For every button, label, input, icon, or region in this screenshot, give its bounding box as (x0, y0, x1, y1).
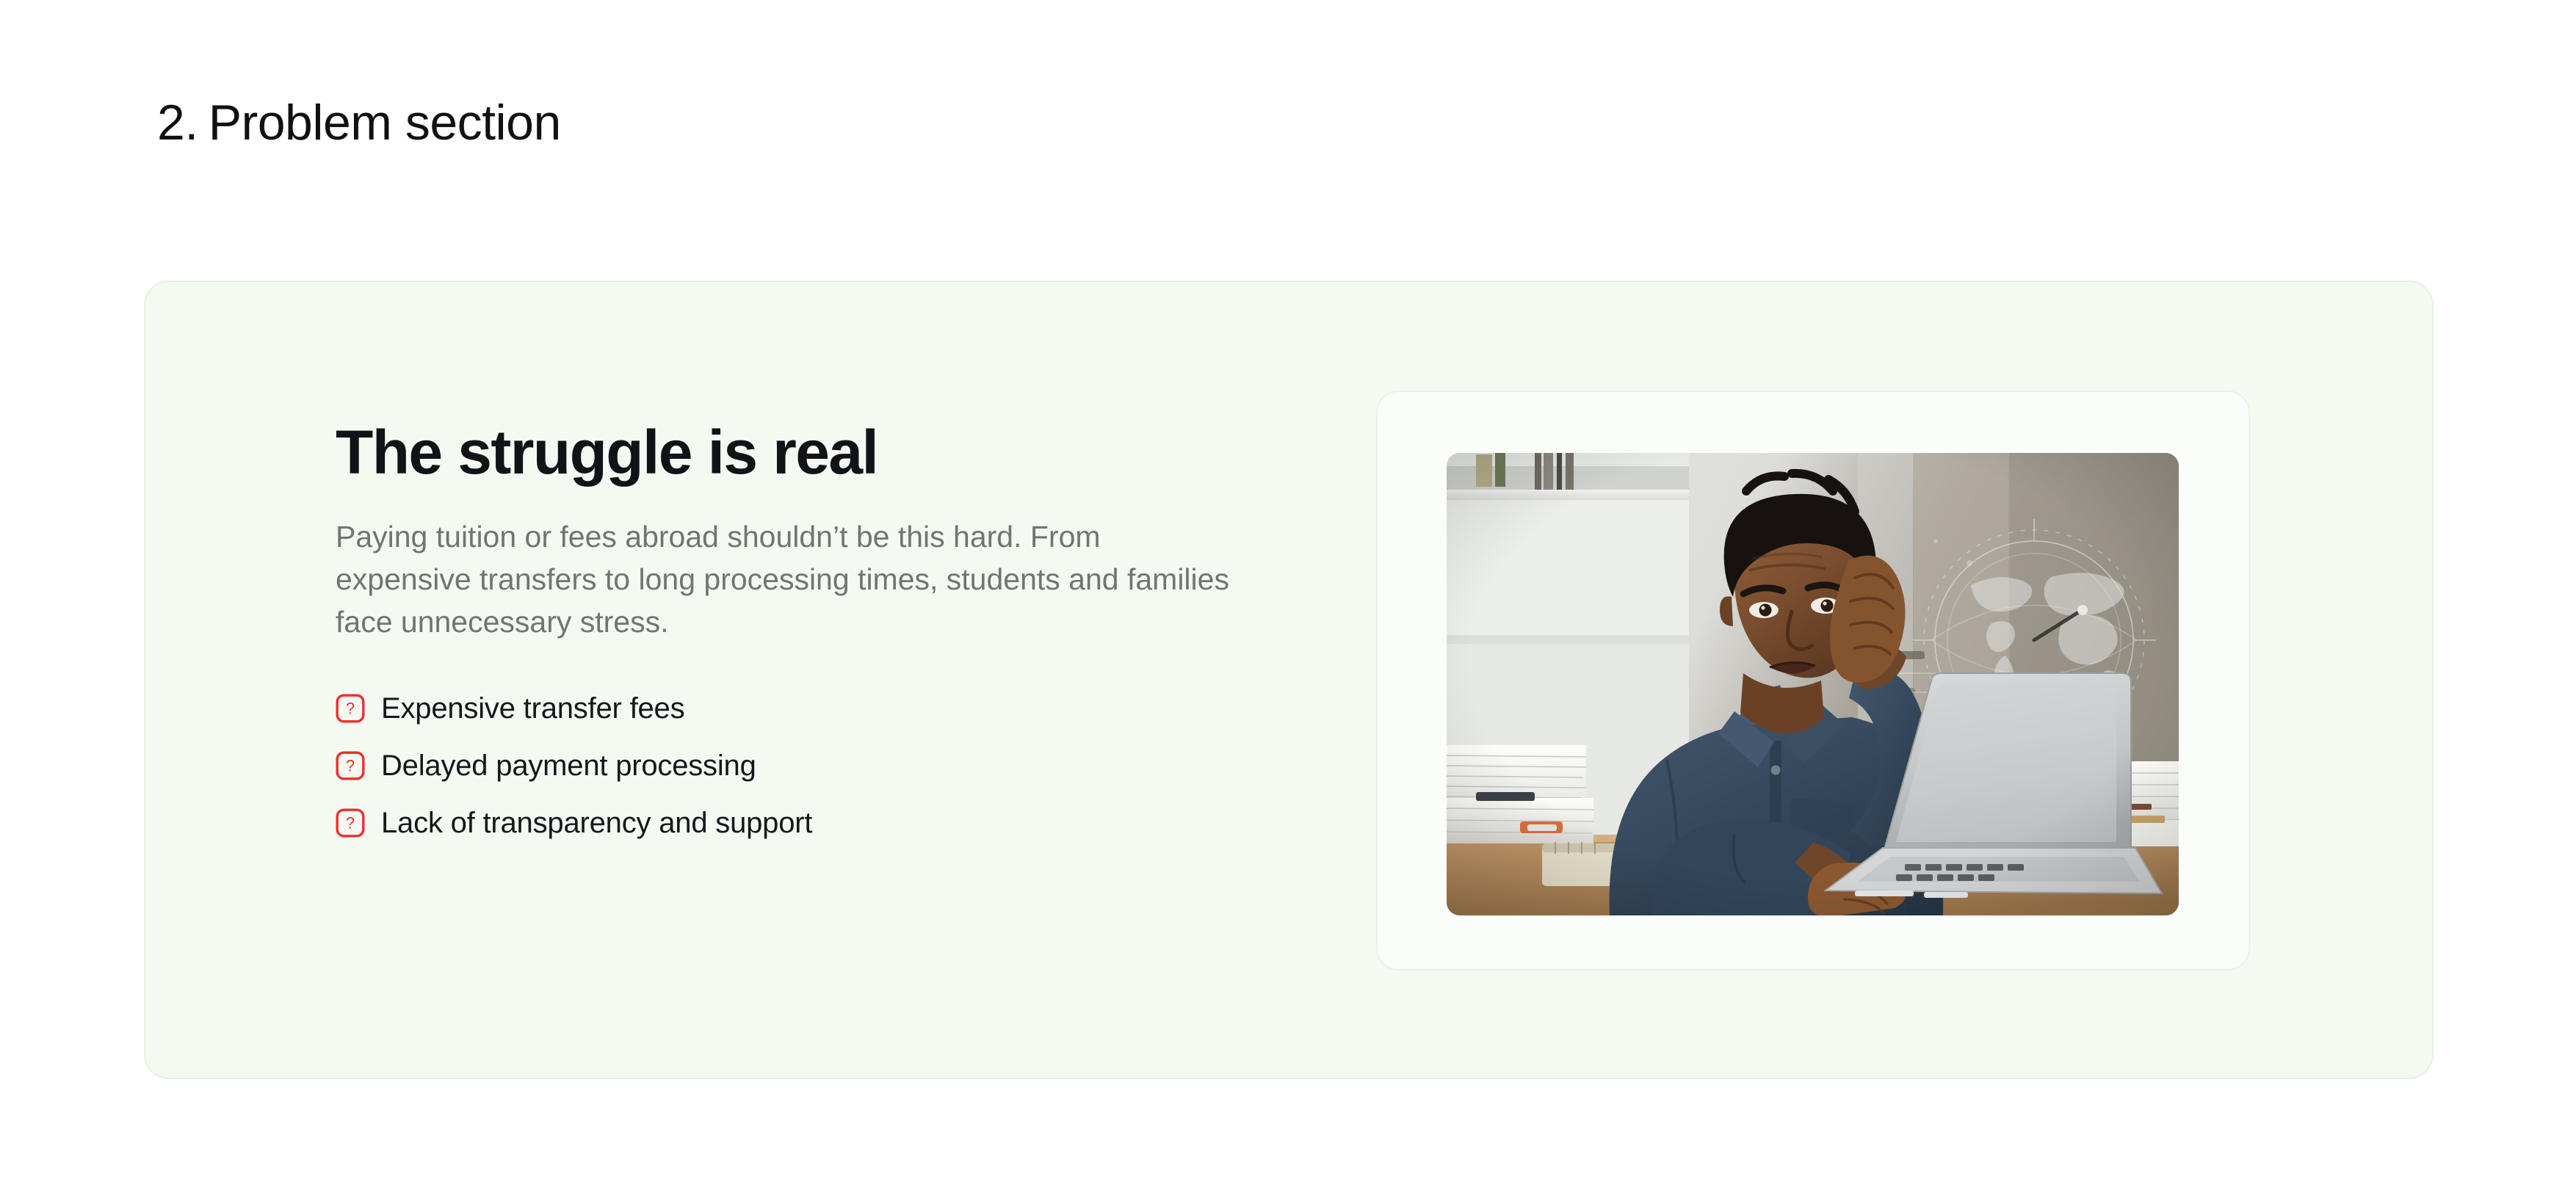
list-item-label: Delayed payment processing (381, 748, 756, 783)
list-item: ? Delayed payment processing (336, 748, 1268, 783)
svg-text:?: ? (346, 813, 355, 832)
card-body-text: Paying tuition or fees abroad shouldn’t … (336, 515, 1239, 644)
copy-column: The struggle is real Paying tuition or f… (336, 421, 1268, 841)
image-frame: SETTINGS (1376, 391, 2250, 970)
page-title: 2.Problem section (157, 94, 561, 151)
problem-card: The struggle is real Paying tuition or f… (144, 280, 2434, 1079)
card-inner: The struggle is real Paying tuition or f… (145, 282, 2432, 1078)
svg-text:?: ? (346, 756, 355, 774)
slide-canvas: 2.Problem section The struggle is real P… (0, 0, 2576, 1201)
alert-question-icon: ? (336, 694, 365, 723)
list-item-label: Lack of transparency and support (381, 805, 812, 841)
list-item-label: Expensive transfer fees (381, 691, 684, 726)
card-title: The struggle is real (336, 421, 1268, 483)
stressed-student-at-laptop-photo: SETTINGS (1447, 453, 2179, 915)
list-item: ? Lack of transparency and support (336, 805, 1268, 841)
alert-question-icon: ? (336, 808, 365, 838)
list-item: ? Expensive transfer fees (336, 691, 1268, 726)
alert-question-icon: ? (336, 751, 365, 780)
section-title: Problem section (209, 95, 561, 150)
svg-text:?: ? (346, 699, 355, 717)
section-number: 2. (157, 95, 198, 150)
problem-list: ? Expensive transfer fees ? Delayed (336, 691, 1268, 841)
